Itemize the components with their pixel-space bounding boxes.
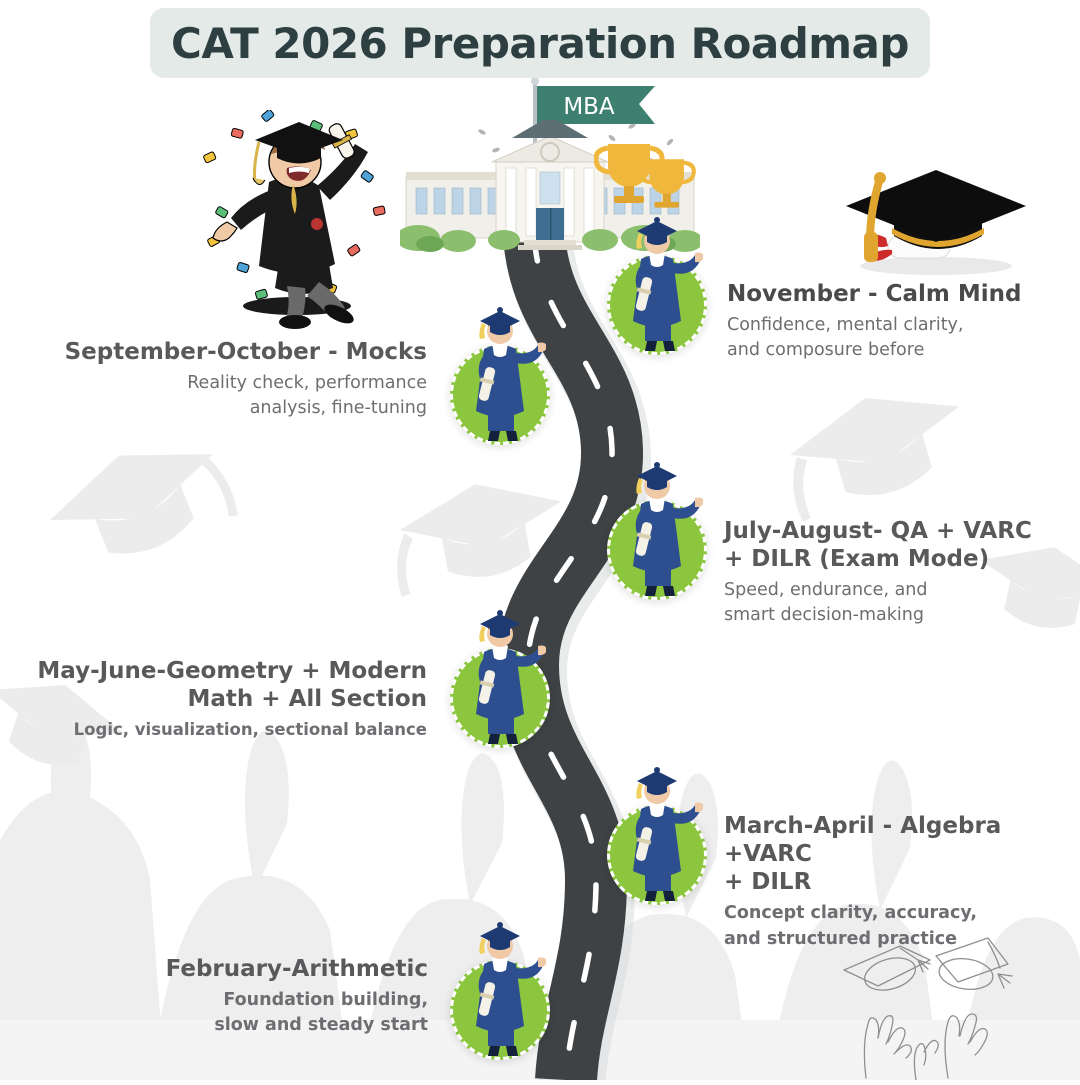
- graduate-figure-icon: [611, 765, 703, 905]
- milestone-node-july-august[interactable]: [607, 500, 707, 600]
- graduate-figure-icon: [454, 920, 546, 1060]
- milestone-heading: September-October - Mocks: [25, 338, 427, 366]
- milestone-text-november: November - Calm Mind Confidence, mental …: [727, 280, 1057, 364]
- milestone-text-february: February-Arithmetic Foundation building,…: [120, 955, 428, 1039]
- page-title-banner: CAT 2026 Preparation Roadmap: [150, 8, 930, 78]
- milestone-text-may-june: May-June-Geometry + ModernMath + All Sec…: [0, 657, 427, 742]
- milestone-subtitle: Logic, visualization, sectional balance: [0, 718, 427, 742]
- milestone-heading: July-August- QA + VARC+ DILR (Exam Mode): [724, 517, 1074, 573]
- milestone-heading: November - Calm Mind: [727, 280, 1057, 308]
- milestone-node-september-october[interactable]: [450, 345, 550, 445]
- page-title: CAT 2026 Preparation Roadmap: [171, 19, 909, 68]
- milestone-heading: March-April - Algebra +VARC+ DILR: [724, 812, 1074, 896]
- milestone-subtitle: Speed, endurance, andsmart decision-maki…: [724, 578, 1074, 629]
- milestone-subtitle: Concept clarity, accuracy,and structured…: [724, 901, 1074, 952]
- milestone-node-march-april[interactable]: [607, 805, 707, 905]
- milestone-node-november[interactable]: [607, 255, 707, 355]
- milestone-heading: February-Arithmetic: [120, 955, 428, 983]
- graduate-figure-icon: [454, 608, 546, 748]
- graduate-figure-icon: [611, 215, 703, 355]
- milestone-subtitle: Foundation building,slow and steady star…: [120, 988, 428, 1039]
- graduate-figure-icon: [454, 305, 546, 445]
- milestone-heading: May-June-Geometry + ModernMath + All Sec…: [0, 657, 427, 713]
- graduation-cap-diploma-illustration: [832, 158, 1032, 280]
- trophy-pair-illustration: [594, 140, 704, 220]
- thrown-caps-line-art-illustration: [838, 930, 1073, 1080]
- milestone-node-may-june[interactable]: [450, 648, 550, 748]
- celebrating-graduate-illustration: [195, 110, 405, 330]
- flag-label: MBA: [563, 94, 615, 120]
- milestone-text-september-october: September-October - Mocks Reality check,…: [25, 338, 427, 422]
- graduate-figure-icon: [611, 460, 703, 600]
- milestone-subtitle: Reality check, performanceanalysis, fine…: [25, 371, 427, 422]
- milestone-node-february[interactable]: [450, 960, 550, 1060]
- milestone-text-march-april: March-April - Algebra +VARC+ DILR Concep…: [724, 812, 1074, 952]
- milestone-text-july-august: July-August- QA + VARC+ DILR (Exam Mode)…: [724, 517, 1074, 629]
- milestone-subtitle: Confidence, mental clarity,and composure…: [727, 313, 1057, 364]
- infographic-canvas: CAT 2026 Preparation Roadmap MBA: [0, 0, 1080, 1080]
